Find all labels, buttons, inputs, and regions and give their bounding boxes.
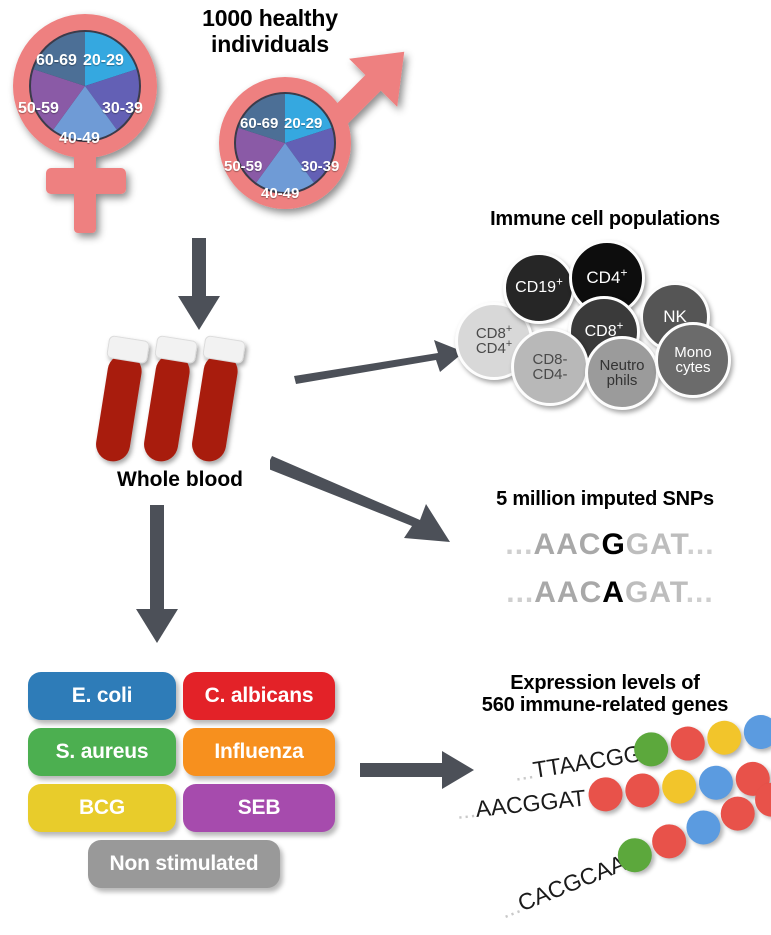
immune-cell-neutrophils: Neutrophils (585, 336, 659, 410)
snp-suffix-dots: ... (687, 528, 715, 561)
stimulus-label: S. aureus (56, 740, 149, 764)
gene-sequence-row: ...AACGGAT (455, 785, 587, 825)
gene-bead (668, 724, 707, 763)
snp-prefix-dots: ... (505, 528, 533, 561)
immune-cell-cd19pos: CD19+ (503, 252, 575, 324)
gene-bead (681, 805, 725, 849)
stimulus-c-albicans[interactable]: C. albicans (183, 672, 335, 720)
stimulus-bcg[interactable]: BCG (28, 784, 176, 832)
female-symbol: 20-29 30-39 40-49 50-59 60-69 (6, 8, 196, 243)
snp-row: ...AACAGAT... (470, 576, 750, 618)
venus-icon (6, 8, 196, 243)
age-pie-female (31, 32, 139, 140)
stimulus-label: Influenza (214, 740, 303, 764)
snp-prefix-dots: ... (506, 576, 534, 609)
blood-tubes-icon (95, 330, 275, 470)
immune-cell-cluster: CD8+CD4+ CD19+ CD4+ NK CD8+ CD8-CD4- Neu… (455, 240, 760, 415)
snp-variant-base: A (602, 576, 625, 609)
immune-cell-label: CD19+ (515, 280, 563, 296)
gene-bases: CACGCAA (514, 850, 629, 917)
snp-variant-base: G (601, 528, 625, 561)
gene-bead (660, 768, 697, 805)
snp-row: ...AACGGAT... (470, 528, 750, 570)
immune-cell-label: Monocytes (674, 345, 712, 376)
gene-bead (741, 713, 771, 752)
snp-section-title: 5 million imputed SNPs (440, 488, 770, 510)
stimulus-label: C. albicans (205, 684, 314, 708)
mars-icon (200, 40, 430, 255)
immune-cell-label: CD8+CD4+ (476, 326, 512, 357)
gene-bead (624, 772, 661, 809)
genes-section-title: Expression levels of 560 immune-related … (440, 672, 770, 717)
genes-title-line2: 560 immune-related genes (440, 694, 770, 716)
stimulus-s-aureus[interactable]: S. aureus (28, 728, 176, 776)
male-symbol: 20-29 30-39 40-49 50-59 60-69 (200, 40, 430, 255)
arrow-blood-to-stimuli (128, 505, 186, 650)
stimulus-label: SEB (238, 796, 281, 820)
snp-right-bases: GAT (625, 576, 686, 609)
snp-left-bases: AAC (534, 576, 602, 609)
stimulus-label: Non stimulated (110, 852, 259, 876)
snp-right-bases: GAT (626, 528, 687, 561)
snp-sequences: ...AACGGAT... ...AACAGAT... (470, 528, 750, 618)
immune-cell-monocytes: Monocytes (655, 322, 731, 398)
arrow-cohort-to-blood (170, 238, 230, 338)
stimulus-e-coli[interactable]: E. coli (28, 672, 176, 720)
stimulus-seb[interactable]: SEB (183, 784, 335, 832)
gene-sequence-row: ...CACGCAA (496, 850, 629, 925)
snp-left-bases: AAC (533, 528, 601, 561)
genes-title-line1: Expression levels of (440, 672, 770, 694)
snp-suffix-dots: ... (686, 576, 714, 609)
stimuli-panel: E. coli C. albicans S. aureus Influenza … (28, 672, 338, 902)
stimulus-influenza[interactable]: Influenza (183, 728, 335, 776)
gene-bases: AACGGAT (474, 785, 587, 822)
stimulus-label: BCG (79, 796, 125, 820)
gene-bead (647, 819, 691, 863)
age-pie-male (236, 94, 334, 192)
whole-blood-label: Whole blood (80, 468, 280, 492)
immune-cell-label: CD4+ (586, 269, 627, 286)
gene-bead (705, 718, 744, 757)
immune-cell-label: Neutrophils (599, 358, 644, 389)
arrow-blood-to-immune (292, 330, 467, 390)
gene-bead (697, 764, 734, 801)
gene-bead (587, 776, 624, 813)
gene-strands: ...TTAACGG ...AACGGAT ...CACGCAA (455, 718, 771, 918)
immune-cell-label: CD8-CD4- (532, 352, 567, 383)
figure-canvas: 1000 healthy individuals (0, 0, 771, 922)
stimulus-non-stimulated[interactable]: Non stimulated (88, 840, 280, 888)
arrow-blood-to-snps (270, 450, 460, 550)
gene-bases: TTAACGG (531, 740, 643, 783)
immune-cell-cd8neg-cd4neg: CD8-CD4- (511, 328, 589, 406)
immune-section-title: Immune cell populations (440, 208, 770, 230)
stimulus-label: E. coli (72, 684, 132, 708)
